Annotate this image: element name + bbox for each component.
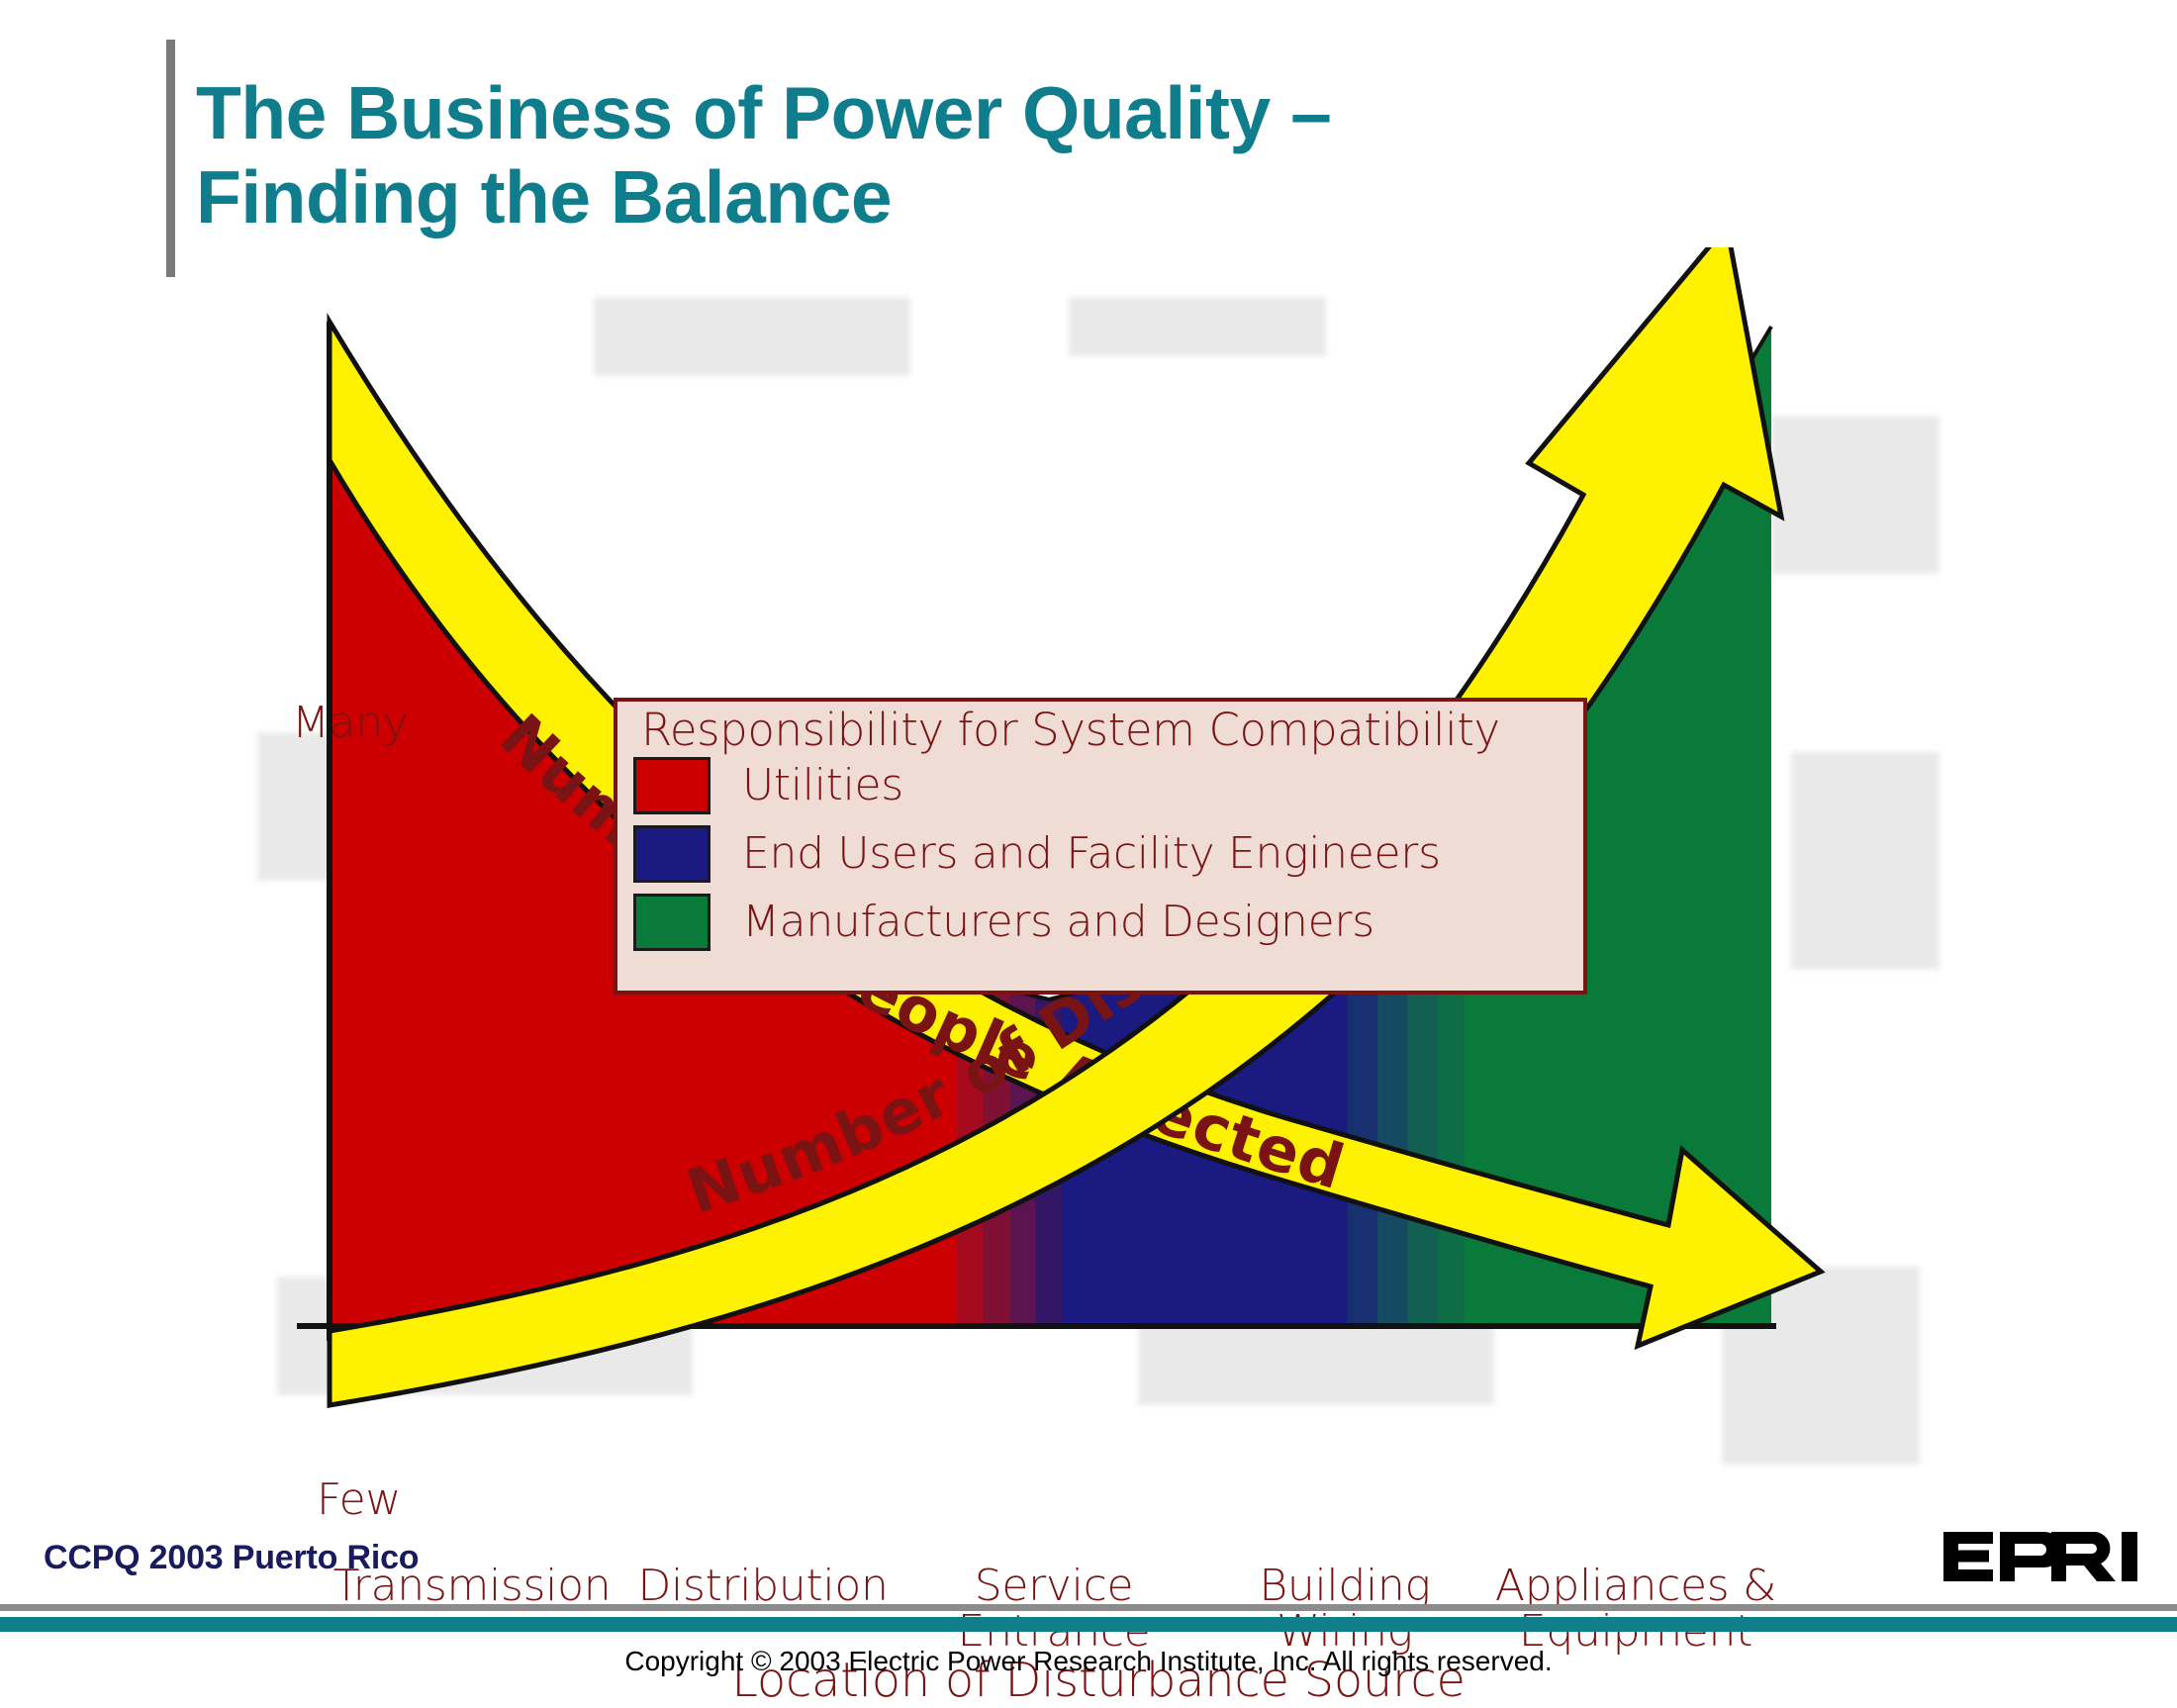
footer-divider-gray xyxy=(0,1604,2177,1611)
y-axis-tick-few: Few xyxy=(317,1474,401,1525)
page-title: The Business of Power Quality – Finding … xyxy=(196,71,1631,239)
y-axis-tick-many: Many xyxy=(292,698,409,748)
legend-item-end-users: End Users and Facility Engineers xyxy=(631,818,1583,890)
copyright-text: Copyright © 2003 Electric Power Research… xyxy=(0,1646,2177,1677)
legend-item-utilities: Utilities xyxy=(631,750,1583,821)
footer-divider-teal xyxy=(0,1617,2177,1632)
title-accent-bar xyxy=(166,40,175,277)
legend-label-manufacturers: Manufacturers and Designers xyxy=(742,901,1374,944)
legend-title: Responsibility for System Compatibility xyxy=(641,708,1583,753)
legend-swatch-manufacturers xyxy=(633,894,710,951)
legend-item-manufacturers: Manufacturers and Designers xyxy=(631,887,1583,958)
epri-logo xyxy=(1941,1526,2139,1587)
footer-event-name: CCPQ 2003 Puerto Rico xyxy=(44,1539,419,1577)
chart-area: Number of People Affected Number of Dist… xyxy=(0,247,2177,1484)
chart-legend: Responsibility for System Compatibility … xyxy=(614,698,1587,995)
legend-label-utilities: Utilities xyxy=(742,764,903,807)
legend-swatch-end-users xyxy=(633,825,710,883)
legend-swatch-utilities xyxy=(633,757,710,814)
legend-label-end-users: End Users and Facility Engineers xyxy=(742,832,1441,876)
